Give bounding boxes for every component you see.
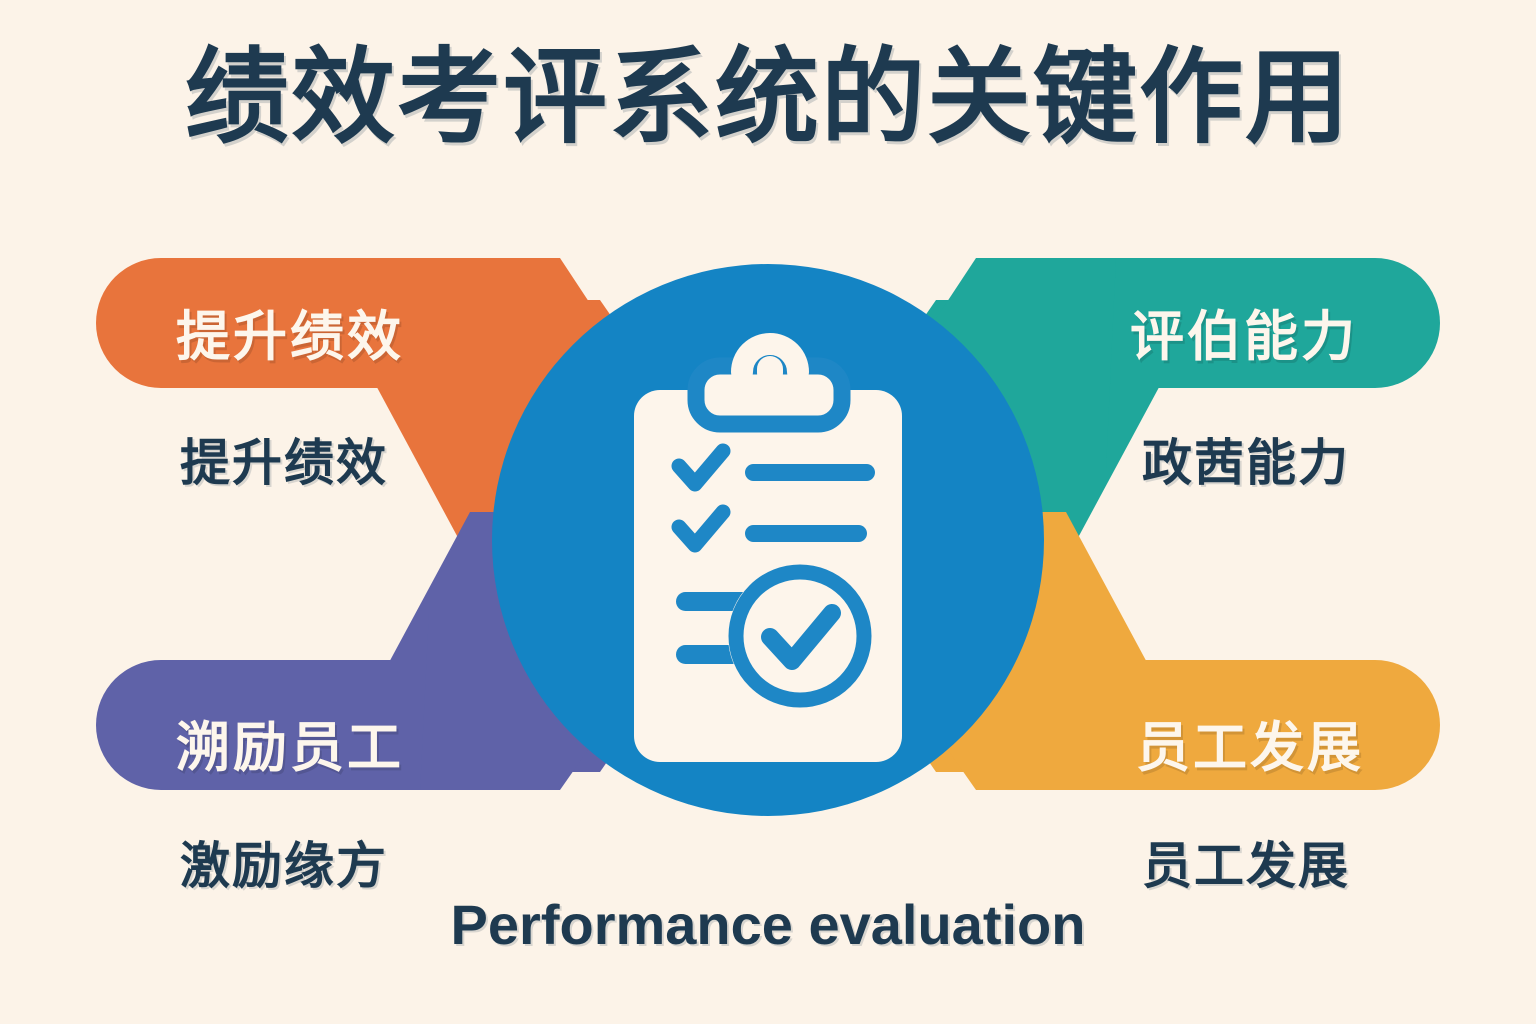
branch-pill-label-top-right: 评伯能力 — [1130, 292, 1358, 371]
branch-caption-top-right: 政茜能力 — [1142, 423, 1350, 495]
footer-caption: Performance evaluation — [0, 892, 1536, 957]
clipboard-checklist-icon — [634, 344, 902, 762]
branch-caption-top-left: 提升绩效 — [180, 423, 388, 495]
infographic-poster: 绩效考评系统的关键作用 — [0, 0, 1536, 1024]
branch-pill-label-bottom-right: 员工发展 — [1136, 703, 1364, 782]
branch-pill-label-top-left: 提升绩效 — [176, 292, 404, 371]
branch-caption-bottom-right: 员工发展 — [1142, 826, 1350, 898]
branch-caption-bottom-left: 激励缘方 — [180, 826, 388, 898]
checklist-line-2 — [745, 525, 867, 542]
branch-pill-label-bottom-left: 溯励员工 — [176, 703, 404, 782]
checklist-line-1 — [745, 464, 875, 481]
clipboard-clip-knob — [757, 356, 783, 386]
